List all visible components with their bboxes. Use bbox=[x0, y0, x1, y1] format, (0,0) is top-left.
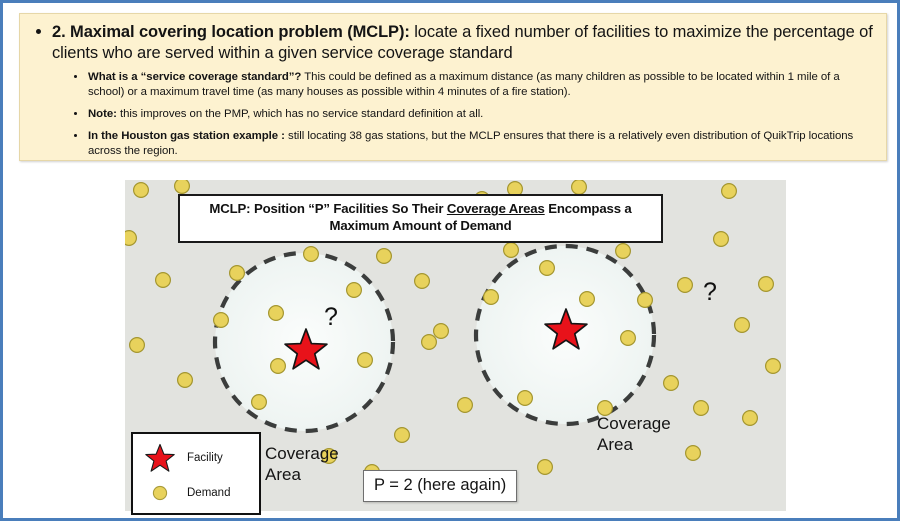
demand-point bbox=[504, 243, 519, 258]
demand-point bbox=[422, 335, 437, 350]
demand-point bbox=[130, 338, 145, 353]
sub-bullet-1-lead: What is a “service coverage standard”? bbox=[88, 71, 301, 83]
facility-star-icon bbox=[142, 443, 178, 473]
bullet-dot-icon bbox=[74, 112, 77, 115]
demand-point bbox=[458, 398, 473, 413]
demand-point bbox=[304, 247, 319, 262]
p-value-caption: P = 2 (here again) bbox=[363, 470, 517, 502]
bullet-dot-icon bbox=[74, 134, 77, 137]
demand-point bbox=[686, 446, 701, 461]
demand-point bbox=[415, 274, 430, 289]
sub-bullet-3-lead: In the Houston gas station example : bbox=[88, 130, 285, 142]
demand-point bbox=[377, 249, 392, 264]
demand-point bbox=[664, 376, 679, 391]
sub-bullet-2-rest: this improves on the PMP, which has no s… bbox=[117, 108, 483, 120]
slide: 2. Maximal covering location problem (MC… bbox=[0, 0, 900, 521]
sub-bullet-list: What is a “service coverage standard”? T… bbox=[30, 70, 876, 160]
sub-bullet-2: Note: this improves on the PMP, which ha… bbox=[72, 107, 876, 122]
demand-point bbox=[214, 313, 229, 328]
demand-point bbox=[621, 331, 636, 346]
legend-label-facility: Facility bbox=[178, 452, 223, 464]
diagram-title-underlined: Coverage Areas bbox=[447, 201, 545, 216]
mclp-diagram: ?? MCLP: Position “P” Facilities So Thei… bbox=[125, 180, 786, 511]
legend-row-facility: Facility bbox=[133, 440, 259, 475]
demand-point bbox=[759, 277, 774, 292]
coverage-area-label-right: Coverage Area bbox=[597, 414, 671, 455]
bullet-dot-icon bbox=[74, 75, 77, 78]
legend-label-demand: Demand bbox=[178, 487, 230, 499]
demand-point bbox=[178, 373, 193, 388]
demand-point bbox=[134, 183, 149, 198]
demand-point bbox=[434, 324, 449, 339]
bullet-dot-icon bbox=[36, 29, 41, 34]
demand-point bbox=[714, 232, 729, 247]
sub-bullet-2-lead: Note: bbox=[88, 108, 117, 120]
demand-point bbox=[269, 306, 284, 321]
demand-point bbox=[252, 395, 267, 410]
legend-box: Facility Demand bbox=[131, 432, 261, 515]
demand-point bbox=[743, 411, 758, 426]
demand-point bbox=[347, 283, 362, 298]
demand-point bbox=[616, 244, 631, 259]
demand-point bbox=[540, 261, 555, 276]
demand-point bbox=[518, 391, 533, 406]
demand-point bbox=[175, 180, 190, 193]
facility-question-mark: ? bbox=[703, 278, 717, 306]
coverage-area-label-left: Coverage Area bbox=[265, 444, 339, 485]
demand-point bbox=[395, 428, 410, 443]
demand-point bbox=[735, 318, 750, 333]
demand-point bbox=[580, 292, 595, 307]
diagram-title-box: MCLP: Position “P” Facilities So Their C… bbox=[178, 194, 663, 243]
demand-point bbox=[678, 278, 693, 293]
main-bullet-lead: 2. Maximal covering location problem (MC… bbox=[52, 23, 410, 41]
demand-point bbox=[638, 293, 653, 308]
facility-question-mark: ? bbox=[324, 303, 338, 331]
demand-point bbox=[722, 184, 737, 199]
demand-point bbox=[125, 231, 136, 246]
demand-point bbox=[484, 290, 499, 305]
demand-point bbox=[358, 353, 373, 368]
sub-bullet-3: In the Houston gas station example : sti… bbox=[72, 129, 876, 159]
diagram-title-part1: MCLP: Position “P” Facilities So Their bbox=[209, 201, 446, 216]
bullet-panel: 2. Maximal covering location problem (MC… bbox=[19, 13, 887, 161]
legend-row-demand: Demand bbox=[133, 475, 259, 510]
demand-point bbox=[538, 460, 553, 475]
demand-point bbox=[572, 180, 587, 194]
demand-point bbox=[230, 266, 245, 281]
sub-bullet-1: What is a “service coverage standard”? T… bbox=[72, 70, 876, 100]
demand-point bbox=[766, 359, 781, 374]
demand-dot-icon bbox=[142, 484, 178, 502]
demand-point bbox=[694, 401, 709, 416]
demand-point bbox=[156, 273, 171, 288]
demand-point bbox=[271, 359, 286, 374]
main-bullet: 2. Maximal covering location problem (MC… bbox=[30, 22, 876, 64]
